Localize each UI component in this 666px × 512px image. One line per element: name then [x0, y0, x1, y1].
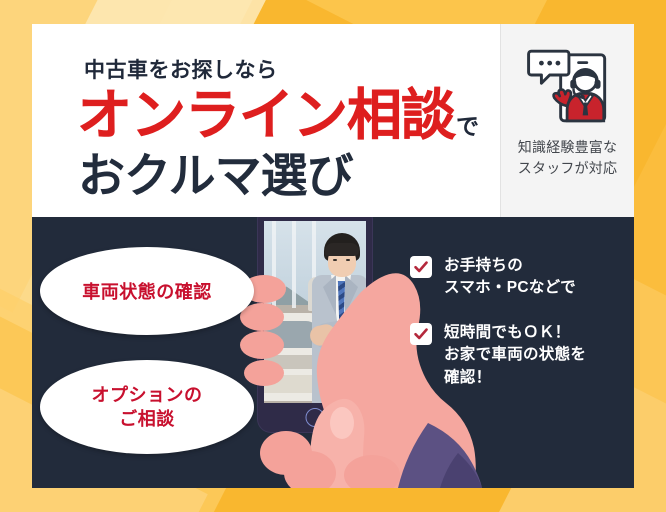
- headline-eyebrow: 中古車をお探しなら: [84, 54, 278, 84]
- headline-sub: おクルマ選び: [78, 152, 353, 199]
- headline-panel: 中古車をお探しなら オンライン相談で おクルマ選び: [32, 24, 634, 217]
- operator-caption-line2: スタッフが対応: [518, 158, 617, 179]
- headline-block: 中古車をお探しなら オンライン相談で おクルマ選び: [32, 24, 500, 217]
- operator-caption: 知識経験豊富な スタッフが対応: [518, 137, 617, 179]
- photo-staff-eye: [346, 259, 350, 261]
- photo-staff-fringe: [325, 243, 359, 256]
- feature-bubble-options[interactable]: オプションの ご相談: [40, 360, 254, 454]
- checkbox-checked-icon[interactable]: [410, 323, 432, 345]
- features-panel: 車両状態の確認 オプションの ご相談 お手持ちの スマホ・PCなどで: [32, 217, 634, 488]
- feature-bubble-label: 車両状態の確認: [82, 278, 212, 304]
- smartphone-illustration: [258, 217, 372, 432]
- feature-bubble-label-line1: オプションの: [92, 383, 203, 407]
- checklist-line: 短時間でもＯＫ！: [444, 324, 570, 341]
- checklist-item-text: 短時間でもＯＫ！ お家で車両の状態を 確認！: [444, 322, 586, 389]
- checklist-line: お家で車両の状態を: [444, 346, 586, 363]
- checklist-line: お手持ちの: [444, 257, 523, 274]
- checklist-line: 確認！: [444, 369, 491, 386]
- checklist-line: スマホ・PCなどで: [444, 279, 576, 296]
- feature-bubble-vehicle-condition[interactable]: 車両状態の確認: [40, 247, 254, 335]
- photo-car-grille: [264, 355, 316, 369]
- checklist: お手持ちの スマホ・PCなどで 短時間でもＯＫ！ お家で車両の状態を 確認！: [410, 255, 626, 411]
- feature-bubble-label-line2: ご相談: [92, 407, 203, 431]
- phone-screen: [264, 221, 366, 403]
- photo-sales-staff: [312, 233, 366, 403]
- headline-main-red: オンライン相談: [77, 84, 455, 146]
- headset-operator-icon: [524, 40, 612, 132]
- photo-pillar: [292, 221, 296, 308]
- phone-home-button-icon: [306, 408, 325, 427]
- headline-main-suffix: で: [456, 113, 479, 139]
- checklist-item-devices[interactable]: お手持ちの スマホ・PCなどで: [410, 255, 626, 300]
- operator-block: 知識経験豊富な スタッフが対応: [501, 24, 634, 217]
- photo-staff-eye: [333, 259, 337, 261]
- checklist-item-short-time[interactable]: 短時間でもＯＫ！ お家で車両の状態を 確認！: [410, 322, 626, 389]
- checkbox-checked-icon[interactable]: [410, 256, 432, 278]
- promo-banner: 中古車をお探しなら オンライン相談で おクルマ選び: [0, 0, 666, 512]
- operator-caption-line1: 知識経験豊富な: [518, 137, 617, 158]
- photo-pillar: [272, 221, 276, 308]
- headline-main: オンライン相談で: [77, 88, 479, 143]
- checklist-item-text: お手持ちの スマホ・PCなどで: [444, 255, 576, 300]
